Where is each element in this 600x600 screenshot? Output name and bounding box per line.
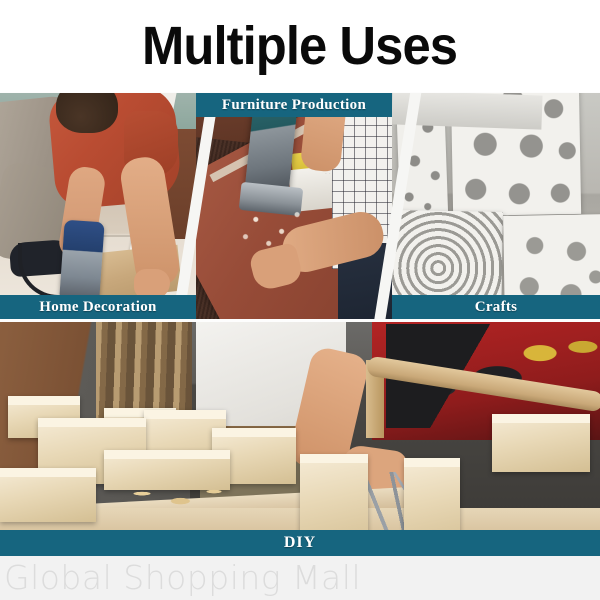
watermark-text: Global Shopping Mall	[4, 558, 361, 598]
diy-block-top-face-7	[300, 454, 368, 463]
diy-block-top-face-4	[212, 428, 296, 437]
caption-home-decoration: Home Decoration	[0, 295, 196, 319]
diy-block-top-face-3	[144, 410, 226, 419]
photo-diy	[0, 322, 600, 556]
caption-furniture-production-label: Furniture Production	[222, 97, 366, 114]
diy-wood-block-9	[0, 468, 96, 522]
photo-furniture-production	[196, 93, 392, 319]
watermark-strip: Global Shopping Mall	[0, 556, 600, 600]
hd-head	[56, 93, 118, 133]
diy-block-top-face-8	[404, 458, 460, 467]
panel-crafts	[392, 93, 600, 319]
caption-furniture-production: Furniture Production	[196, 93, 392, 117]
diy-block-top-face-5	[8, 396, 80, 405]
caption-crafts: Crafts	[392, 295, 600, 319]
diy-block-top-face-1	[38, 418, 146, 427]
diy-block-top-face-10	[492, 414, 590, 423]
photo-crafts	[392, 93, 600, 319]
diy-block-top-face-9	[0, 468, 96, 477]
page-title-text: Multiple Uses	[143, 19, 458, 73]
page-title: Multiple Uses	[0, 0, 600, 92]
panel-furniture-production	[196, 93, 392, 319]
product-feature-image: Multiple Uses	[0, 0, 600, 600]
caption-crafts-label: Crafts	[475, 299, 518, 316]
top-photo-row: Furniture Production Home Decoration Cra…	[0, 93, 600, 319]
diy-wood-block-10	[492, 414, 590, 472]
diy-block-top-face-6	[104, 450, 230, 459]
caption-home-decoration-label: Home Decoration	[39, 299, 156, 316]
caption-diy: DIY	[0, 530, 600, 556]
photo-home-decoration	[0, 93, 196, 319]
panel-home-decoration	[0, 93, 196, 319]
diy-wood-shavings	[118, 480, 238, 514]
caption-diy-label: DIY	[284, 534, 316, 552]
